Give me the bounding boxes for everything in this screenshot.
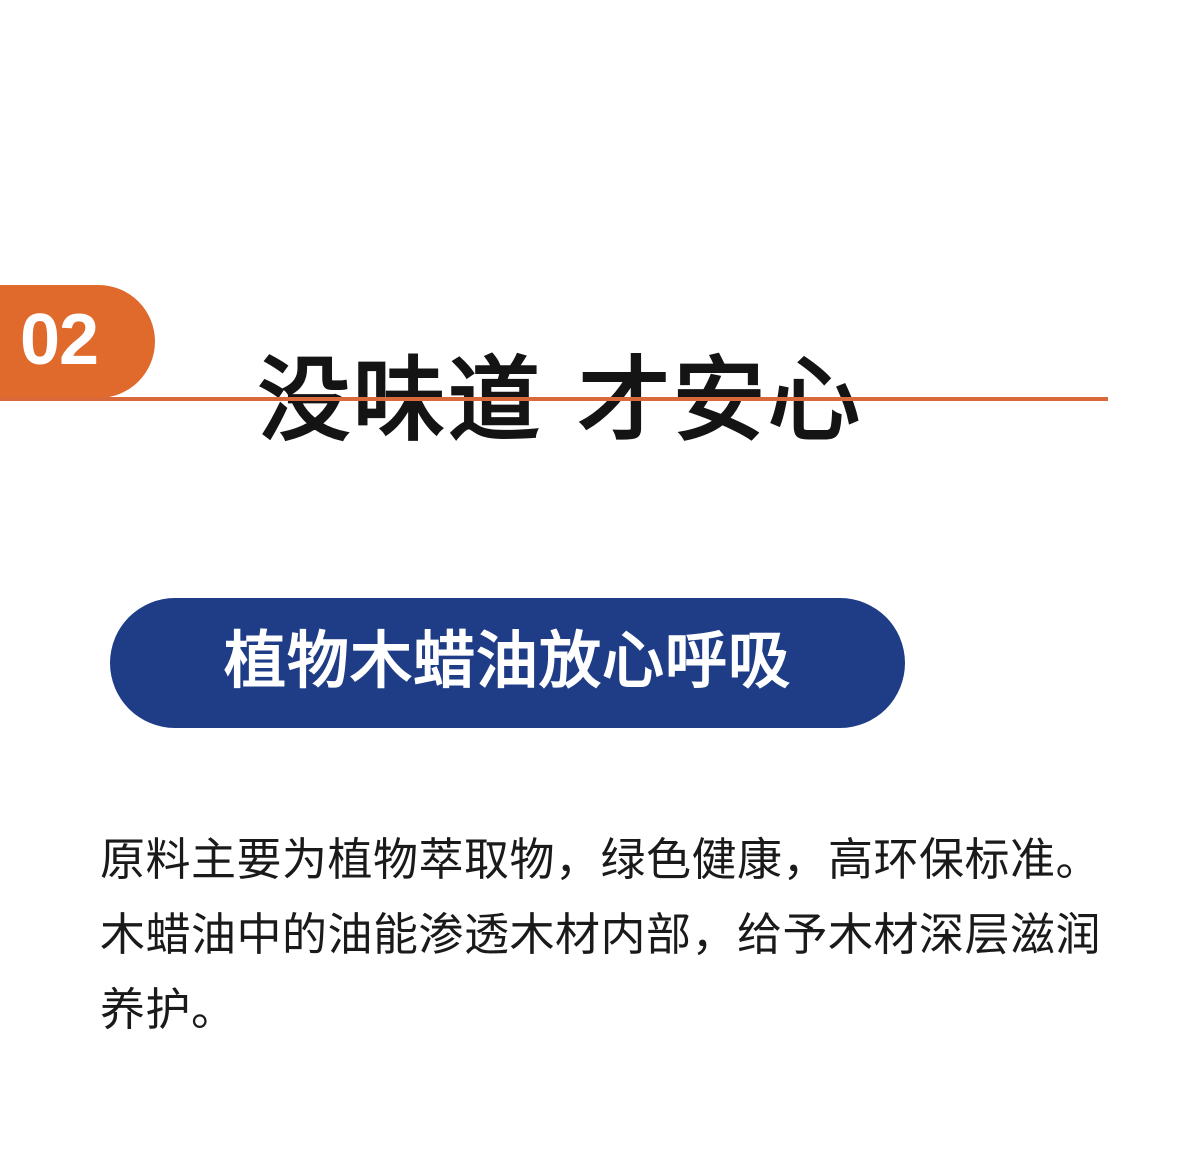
product-feature-page: 02 没味道 才安心 植物木蜡油放心呼吸 原料主要为植物萃取物，绿色健康，高环保…: [0, 0, 1200, 1149]
body-line: 原料主要为植物萃取物，绿色健康，高环保标准。: [100, 822, 1120, 897]
section-title: 没味道 才安心: [258, 345, 863, 458]
body-paragraph: 原料主要为植物萃取物，绿色健康，高环保标准。 木蜡油中的油能渗透木材内部，给予木…: [100, 822, 1120, 1047]
section-divider-rule: [0, 397, 1108, 401]
highlight-pill: 植物木蜡油放心呼吸: [110, 598, 905, 728]
highlight-pill-label: 植物木蜡油放心呼吸: [224, 630, 791, 692]
step-number-label: 02: [20, 304, 98, 376]
section-header: 02 没味道 才安心: [0, 285, 1200, 405]
step-number-badge: 02: [0, 285, 155, 398]
body-line: 养护。: [100, 972, 1120, 1047]
body-line: 木蜡油中的油能渗透木材内部，给予木材深层滋润: [100, 897, 1120, 972]
